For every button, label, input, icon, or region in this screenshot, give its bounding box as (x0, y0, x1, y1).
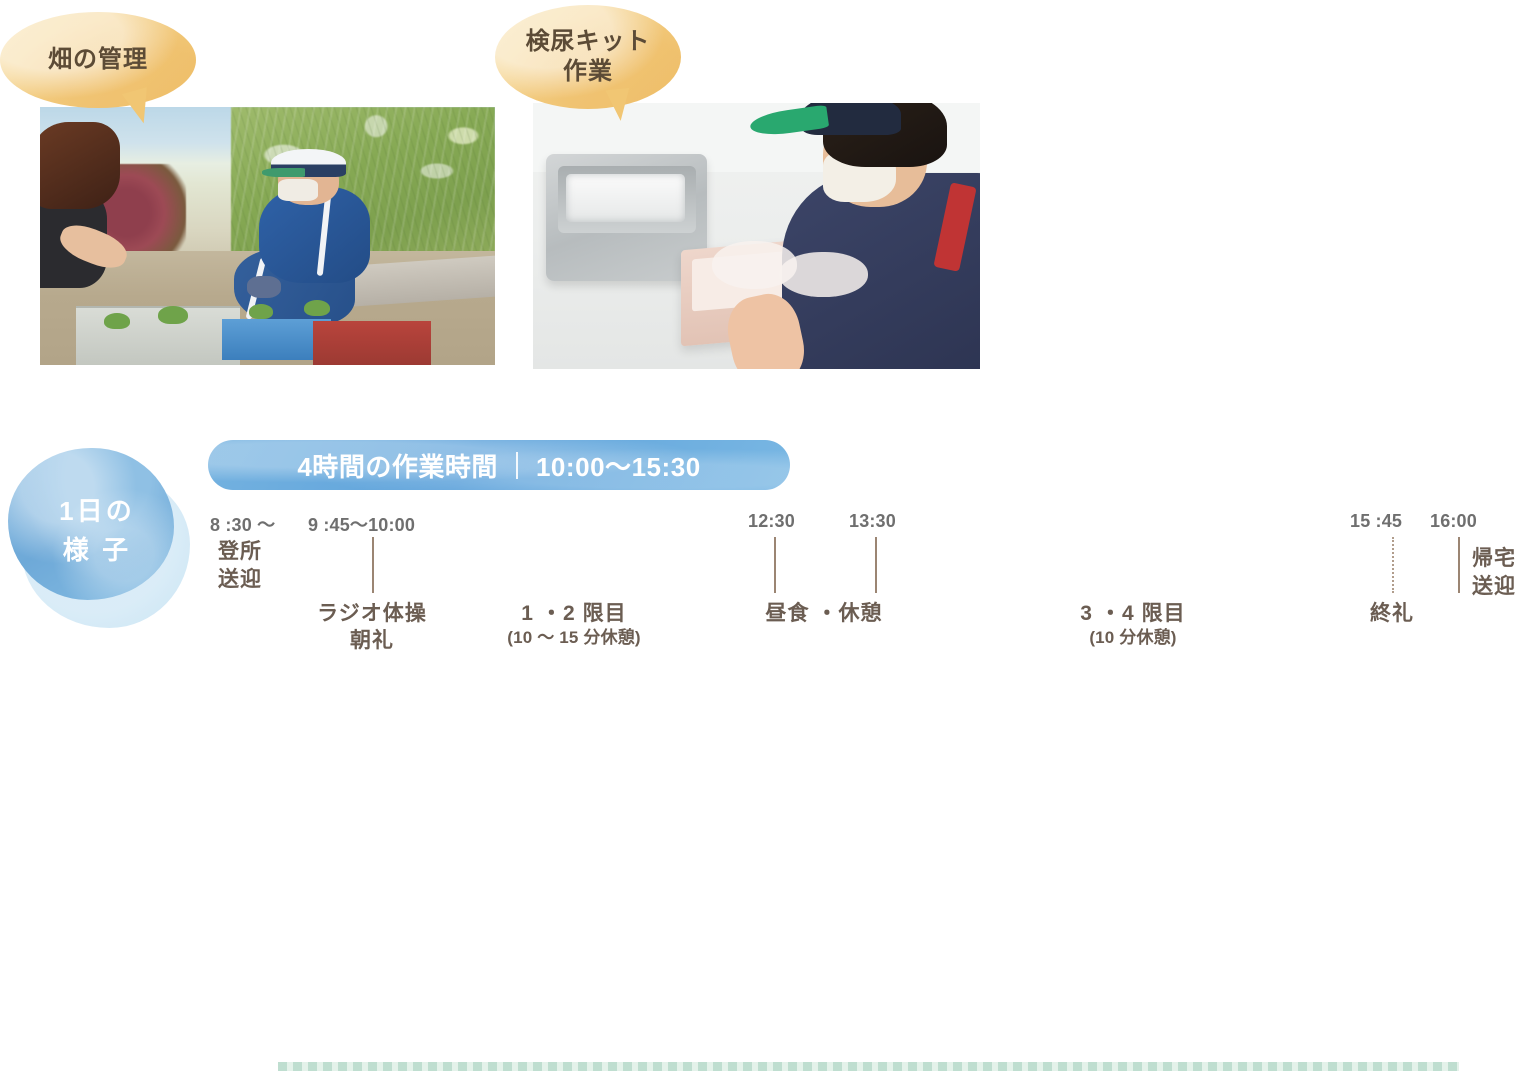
timeline-event-home-transport: 帰宅 送迎 (1472, 545, 1516, 602)
photo-gloved-hand (779, 252, 868, 297)
timeline-time-0945-1000: 9 :45〜10:00 (308, 511, 415, 537)
home-line2: 送迎 (1472, 573, 1516, 601)
field-management-photo (40, 107, 495, 365)
timeline-tick-1600 (1458, 537, 1460, 593)
work-hours-range: 10:00〜15:30 (536, 447, 701, 484)
arrival-line2: 送迎 (218, 566, 262, 594)
photo-seedling (249, 304, 273, 319)
photo-person-in-black-shirt (40, 122, 158, 328)
photo-seedling (104, 313, 130, 329)
speech-bubble-field-management: 畑の管理 (0, 12, 196, 108)
timeline-time-1545: 15 :45 (1350, 511, 1402, 532)
speech-bubble-urine-kit: 検尿キット 作業 (495, 5, 681, 109)
period-1-2-sub: (10 〜 15 分休憩) (454, 627, 694, 649)
period-3-4-main: 3 ・4 限目 (1013, 600, 1253, 627)
radio-exercise-sub: 朝礼 (272, 627, 472, 654)
timeline-event-lunch-break: 昼食 ・休憩 (714, 600, 934, 627)
timeline-tick-1230 (774, 537, 776, 593)
timeline-time-1230: 12:30 (748, 511, 795, 532)
timeline-tick-0945 (372, 537, 374, 593)
speech-bubble-tail (605, 88, 632, 122)
work-hours-banner: 4時間の作業時間 10:00〜15:30 (208, 440, 790, 490)
period-3-4-sub: (10 分休憩) (1013, 627, 1253, 649)
badge-label: 1日の 様 子 (8, 448, 186, 618)
speech-bubble-field-label: 畑の管理 (48, 45, 148, 75)
radio-exercise-main: ラジオ体操 (272, 600, 472, 627)
speech-bubble-kit-line2: 作業 (526, 57, 651, 87)
photo-seedling (158, 306, 188, 324)
speech-bubble-kit-label: 検尿キット 作業 (526, 27, 651, 87)
timeline-tick-1330 (875, 537, 877, 593)
arrival-line1: 登所 (218, 538, 262, 566)
timeline-time-1330: 13:30 (849, 511, 896, 532)
timeline-time-0830: 8 :30 〜 (210, 511, 275, 537)
work-hours-title: 4時間の作業時間 (297, 447, 498, 484)
timeline-event-radio-exercise: ラジオ体操 朝礼 (272, 600, 472, 655)
badge-label-line2: 様 子 (63, 531, 132, 570)
timeline-tick-1545 (1392, 537, 1394, 593)
day-overview-badge: 1日の 様 子 (8, 448, 186, 618)
daily-schedule-timeline: 8 :30 〜 登所 送迎 9 :45〜10:00 12:30 13:30 15… (0, 500, 1536, 658)
timeline-event-period-1-2: 1 ・2 限目 (10 〜 15 分休憩) (454, 600, 694, 649)
period-1-2-main: 1 ・2 限目 (454, 600, 694, 627)
photo-seedling-tray-red (313, 321, 431, 365)
home-line1: 帰宅 (1472, 545, 1516, 573)
urine-kit-photo (533, 103, 980, 369)
work-hours-separator (516, 452, 518, 479)
speech-bubble-kit-line1: 検尿キット (526, 27, 651, 57)
closing-meeting-main: 終礼 (1302, 600, 1482, 627)
photo-seedling (304, 300, 330, 316)
lunch-break-main: 昼食 ・休憩 (714, 600, 934, 627)
timeline-event-arrival-transport: 登所 送迎 (218, 538, 262, 595)
timeline-dashed-track (278, 1062, 1459, 1071)
timeline-time-1600: 16:00 (1430, 511, 1477, 532)
timeline-event-closing-meeting: 終礼 (1302, 600, 1482, 627)
timeline-event-period-3-4: 3 ・4 限目 (10 分休憩) (1013, 600, 1253, 649)
badge-label-line1: 1日の (59, 492, 135, 531)
